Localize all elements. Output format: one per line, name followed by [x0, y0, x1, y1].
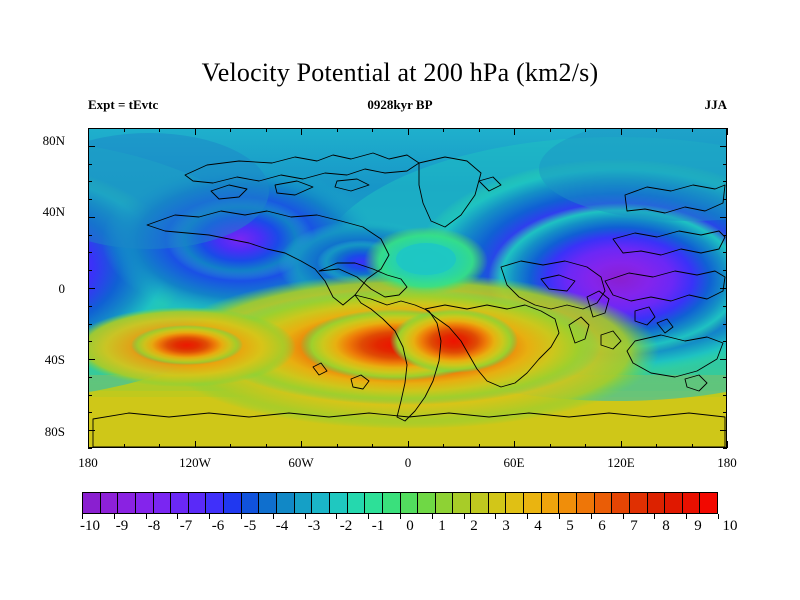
- xtick-top-0: [408, 128, 409, 135]
- xtick-20: [443, 444, 444, 448]
- ytick-right--90: [723, 448, 727, 449]
- xtick-180: [727, 441, 728, 448]
- xtick-top--180: [88, 128, 89, 135]
- ytick--70: [88, 412, 92, 413]
- colorbar-swatch-33: [665, 493, 683, 513]
- xtick--80: [266, 444, 267, 448]
- colorbar-swatch-16: [365, 493, 383, 513]
- ytick-right-50: [723, 199, 727, 200]
- colorbar-swatch-19: [418, 493, 436, 513]
- ytick-right--50: [723, 377, 727, 378]
- ytick-90: [88, 128, 92, 129]
- colorbar-swatch-7: [206, 493, 224, 513]
- colorbar-swatch-0: [83, 493, 101, 513]
- colorbar-tick-12: [464, 514, 465, 519]
- xtick-140: [656, 444, 657, 448]
- ytick-50: [88, 199, 92, 200]
- ytick-right-80: [720, 146, 727, 147]
- colorbar-swatch-21: [453, 493, 471, 513]
- ytick-right-90: [723, 128, 727, 129]
- ytick-right-40: [720, 217, 727, 218]
- colorbar-swatch-22: [471, 493, 489, 513]
- xtick-top-80: [550, 128, 551, 132]
- xtick-top-120: [621, 128, 622, 135]
- xtick-label-180w: 180: [58, 455, 118, 471]
- xtick-80: [550, 444, 551, 448]
- xtick--20: [372, 444, 373, 448]
- colorbar-tick-15: [559, 514, 560, 519]
- ytick-20: [88, 252, 92, 253]
- ytick--80: [88, 430, 95, 431]
- xtick-top-140: [656, 128, 657, 132]
- ytick-right--30: [723, 341, 727, 342]
- colorbar-tick-1: [114, 514, 115, 519]
- ytick-60: [88, 181, 92, 182]
- colorbar-swatch-29: [595, 493, 613, 513]
- xtick-top-160: [692, 128, 693, 132]
- colorbar-tick-9: [368, 514, 369, 519]
- colorbar-swatch-14: [330, 493, 348, 513]
- colorbar-swatch-20: [436, 493, 454, 513]
- xtick--40: [337, 444, 338, 448]
- colorbar-swatch-11: [277, 493, 295, 513]
- xtick-top--80: [266, 128, 267, 132]
- colorbar-swatch-27: [559, 493, 577, 513]
- xtick-40: [479, 444, 480, 448]
- colorbar-tick-16: [591, 514, 592, 519]
- colorbar-swatch-2: [118, 493, 136, 513]
- colorbar-swatch-12: [295, 493, 313, 513]
- colorbar-tick-19: [686, 514, 687, 519]
- xtick-label-120w: 120W: [165, 455, 225, 471]
- velocity-potential-field: [89, 129, 726, 447]
- xtick-top--40: [337, 128, 338, 132]
- colorbar-swatch-28: [577, 493, 595, 513]
- season-label: JJA: [705, 97, 727, 113]
- xtick-label-60e: 60E: [484, 455, 544, 471]
- ytick-right--10: [723, 306, 727, 307]
- xtick-120: [621, 441, 622, 448]
- ytick--40: [88, 359, 95, 360]
- xtick-label-60w: 60W: [271, 455, 331, 471]
- experiment-label: Expt = tEvtc: [88, 97, 158, 113]
- ytick-label-80n: 80N: [5, 133, 65, 149]
- colorbar-tick-6: [273, 514, 274, 519]
- colorbar-swatch-17: [383, 493, 401, 513]
- colorbar-tick-7: [305, 514, 306, 519]
- xtick--140: [159, 444, 160, 448]
- ytick-right-0: [720, 288, 727, 289]
- xtick--160: [124, 444, 125, 448]
- xtick-top--60: [301, 128, 302, 135]
- colorbar-tick-8: [336, 514, 337, 519]
- colorbar-swatch-4: [154, 493, 172, 513]
- colorbar-tick-10: [400, 514, 401, 519]
- ytick-label-40s: 40S: [5, 352, 65, 368]
- ytick--10: [88, 306, 92, 307]
- ytick-right-60: [723, 181, 727, 182]
- ytick--60: [88, 395, 92, 396]
- ytick-right--40: [720, 359, 727, 360]
- xtick-0: [408, 441, 409, 448]
- ytick-label-0: 0: [5, 281, 65, 297]
- colorbar-swatch-25: [524, 493, 542, 513]
- xtick-top--100: [230, 128, 231, 132]
- xtick--100: [230, 444, 231, 448]
- xtick-label-120e: 120E: [591, 455, 651, 471]
- xtick-top-60: [514, 128, 515, 135]
- colorbar-swatch-5: [171, 493, 189, 513]
- ytick-right-10: [723, 270, 727, 271]
- colorbar-swatch-3: [136, 493, 154, 513]
- xtick-label-0: 0: [378, 455, 438, 471]
- colorbar-swatch-1: [101, 493, 119, 513]
- xtick-top-20: [443, 128, 444, 132]
- ytick-right--80: [720, 430, 727, 431]
- ytick-right--20: [723, 324, 727, 325]
- colorbar-tick-20: [718, 514, 719, 519]
- colorbar-tick-3: [177, 514, 178, 519]
- ytick-10: [88, 270, 92, 271]
- colorbar-swatch-30: [612, 493, 630, 513]
- colorbar-label-10: 10: [710, 518, 750, 535]
- xtick-160: [692, 444, 693, 448]
- colorbar-swatch-32: [648, 493, 666, 513]
- colorbar-tick-17: [623, 514, 624, 519]
- figure-root: Velocity Potential at 200 hPa (km2/s) 09…: [0, 0, 800, 600]
- xtick-top--20: [372, 128, 373, 132]
- colorbar-swatch-8: [224, 493, 242, 513]
- colorbar-tick-13: [495, 514, 496, 519]
- ytick--50: [88, 377, 92, 378]
- colorbar-swatch-9: [242, 493, 260, 513]
- xtick-top--160: [124, 128, 125, 132]
- page-title: Velocity Potential at 200 hPa (km2/s): [0, 58, 800, 88]
- colorbar-tick-2: [146, 514, 147, 519]
- ytick-label-80s: 80S: [5, 424, 65, 440]
- colorbar-swatch-34: [683, 493, 701, 513]
- colorbar-tick-0: [82, 514, 83, 519]
- colorbar-swatch-6: [189, 493, 207, 513]
- colorbar-tick-14: [527, 514, 528, 519]
- colorbar-tick-11: [432, 514, 433, 519]
- colorbar-swatch-24: [506, 493, 524, 513]
- colorbar-swatch-31: [630, 493, 648, 513]
- xtick-top-100: [585, 128, 586, 132]
- ytick-right--70: [723, 412, 727, 413]
- ytick--90: [88, 448, 92, 449]
- colorbar-tick-18: [654, 514, 655, 519]
- colorbar-swatch-15: [348, 493, 366, 513]
- xtick-top-40: [479, 128, 480, 132]
- colorbar-swatch-13: [312, 493, 330, 513]
- ytick-40: [88, 217, 95, 218]
- colorbar-swatch-23: [489, 493, 507, 513]
- colorbar: [82, 492, 718, 514]
- xtick--120: [195, 441, 196, 448]
- xtick-top--120: [195, 128, 196, 135]
- colorbar-swatch-18: [401, 493, 419, 513]
- ytick-0: [88, 288, 95, 289]
- xtick-top--140: [159, 128, 160, 132]
- ytick-right--60: [723, 395, 727, 396]
- contour-map: [88, 128, 727, 448]
- ytick--30: [88, 341, 92, 342]
- xtick--180: [88, 441, 89, 448]
- colorbar-swatch-35: [700, 493, 717, 513]
- ytick-80: [88, 146, 95, 147]
- ytick--20: [88, 324, 92, 325]
- colorbar-swatch-26: [542, 493, 560, 513]
- ytick-right-70: [723, 164, 727, 165]
- colorbar-swatch-10: [259, 493, 277, 513]
- xtick--60: [301, 441, 302, 448]
- xtick-label-180e: 180: [697, 455, 757, 471]
- ytick-70: [88, 164, 92, 165]
- ytick-label-40n: 40N: [5, 204, 65, 220]
- ytick-right-20: [723, 252, 727, 253]
- colorbar-tick-5: [241, 514, 242, 519]
- colorbar-tick-4: [209, 514, 210, 519]
- xtick-top-180: [727, 128, 728, 135]
- xtick-100: [585, 444, 586, 448]
- xtick-60: [514, 441, 515, 448]
- ytick-right-30: [723, 235, 727, 236]
- ytick-30: [88, 235, 92, 236]
